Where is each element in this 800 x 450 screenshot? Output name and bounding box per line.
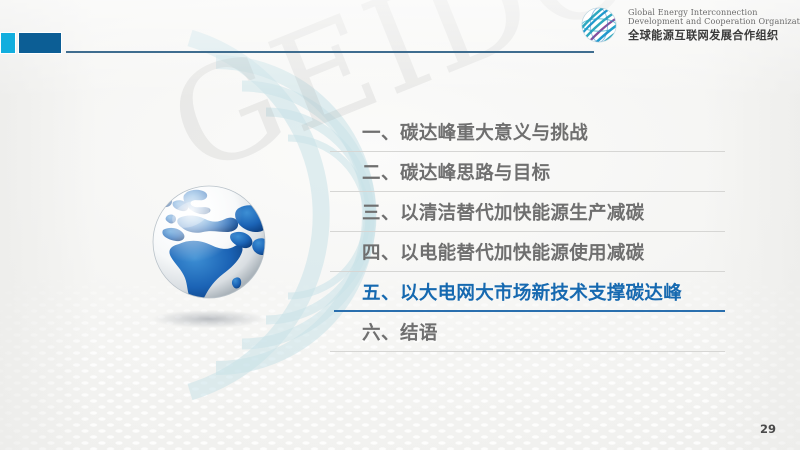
agenda-item-5-active[interactable]: 五、 以大电网大市场新技术支撑碳达峰 [330, 272, 725, 312]
agenda-item-2-number: 二、 [330, 159, 400, 185]
agenda-item-5-number: 五、 [330, 279, 400, 305]
agenda-item-2[interactable]: 二、 碳达峰思路与目标 [330, 152, 725, 192]
agenda-item-4-number: 四、 [330, 239, 400, 265]
header-blue-square [18, 32, 62, 54]
agenda-item-6-number: 六、 [330, 319, 400, 345]
agenda-item-3[interactable]: 三、 以清洁替代加快能源生产减碳 [330, 192, 725, 232]
world-globe-icon [143, 178, 283, 346]
agenda-item-4-label: 以电能替代加快能源使用减碳 [400, 239, 644, 265]
geidco-globe-logo-icon [577, 4, 621, 46]
agenda-item-1[interactable]: 一、 碳达峰重大意义与挑战 [330, 112, 725, 152]
page-number: 29 [760, 422, 776, 436]
agenda-item-5-label: 以大电网大市场新技术支撑碳达峰 [400, 279, 682, 305]
header-rule [66, 51, 594, 53]
organization-logo: Global Energy Interconnection Developmen… [577, 4, 800, 46]
agenda-item-4[interactable]: 四、 以电能替代加快能源使用减碳 [330, 232, 725, 272]
slide-canvas: GEIDCO [0, 0, 800, 450]
logo-english-line-2: Development and Cooperation Organization [628, 17, 800, 27]
agenda-item-1-number: 一、 [330, 119, 400, 145]
agenda-item-1-label: 碳达峰重大意义与挑战 [400, 119, 588, 145]
header-cyan-square [0, 32, 16, 54]
logo-text-block: Global Energy Interconnection Developmen… [628, 8, 800, 42]
agenda-item-6-rule [330, 351, 725, 352]
world-globe-illustration [143, 178, 283, 346]
agenda-item-2-label: 碳达峰思路与目标 [400, 159, 550, 185]
agenda-item-6[interactable]: 六、 结语 [330, 312, 725, 352]
agenda-item-6-label: 结语 [400, 319, 438, 345]
logo-chinese-name: 全球能源互联网发展合作组织 [628, 29, 800, 42]
agenda-item-3-label: 以清洁替代加快能源生产减碳 [400, 199, 644, 225]
agenda-list: 一、 碳达峰重大意义与挑战 二、 碳达峰思路与目标 三、 以清洁替代加快能源生产… [330, 112, 725, 352]
agenda-item-3-number: 三、 [330, 199, 400, 225]
